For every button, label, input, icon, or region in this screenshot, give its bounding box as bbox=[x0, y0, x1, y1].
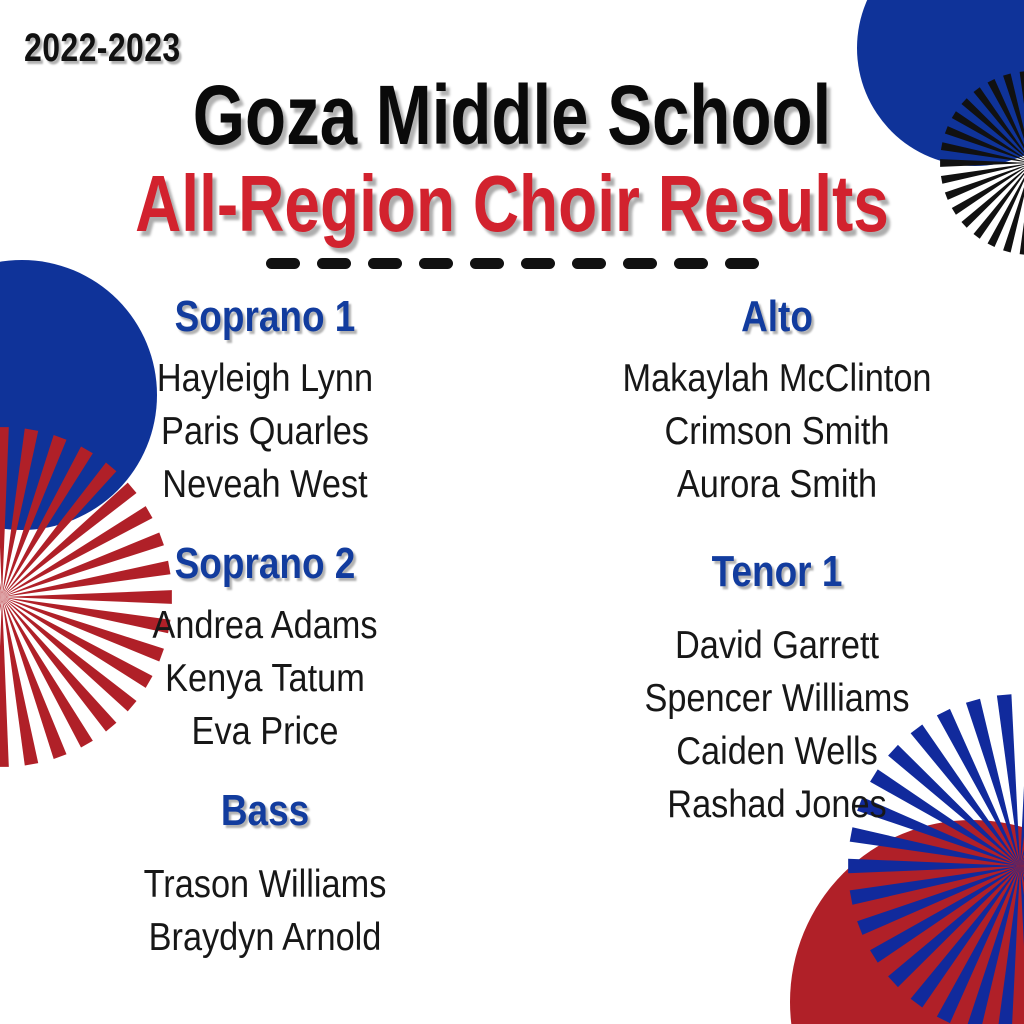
divider-dash bbox=[674, 258, 708, 269]
dashed-divider bbox=[0, 258, 1024, 269]
section-heading: Soprano 2 bbox=[58, 539, 473, 589]
divider-dash bbox=[623, 258, 657, 269]
name-list: Andrea Adams Kenya Tatum Eva Price bbox=[18, 599, 512, 758]
poster-canvas: 2022-2023 Goza Middle School All-Region … bbox=[0, 0, 1024, 1024]
section-heading: Tenor 1 bbox=[570, 547, 985, 597]
list-item: Braydyn Arnold bbox=[48, 911, 483, 964]
name-list: Trason Williams Braydyn Arnold bbox=[18, 858, 512, 964]
list-item: David Garrett bbox=[560, 619, 995, 672]
list-item: Neveah West bbox=[48, 458, 483, 511]
section-heading: Bass bbox=[58, 786, 473, 836]
list-item: Rashad Jones bbox=[560, 778, 995, 831]
section-soprano-2: Soprano 2 Andrea Adams Kenya Tatum Eva P… bbox=[18, 539, 512, 758]
divider-dash bbox=[317, 258, 351, 269]
page-title: Goza Middle School bbox=[102, 74, 921, 156]
page-subtitle: All-Region Choir Results bbox=[102, 162, 921, 246]
list-item: Aurora Smith bbox=[560, 458, 995, 511]
list-item: Kenya Tatum bbox=[48, 652, 483, 705]
divider-dash bbox=[725, 258, 759, 269]
list-item: Eva Price bbox=[48, 705, 483, 758]
divider-dash bbox=[572, 258, 606, 269]
section-heading: Soprano 1 bbox=[58, 292, 473, 342]
list-item: Hayleigh Lynn bbox=[48, 352, 483, 405]
left-column: Soprano 1 Hayleigh Lynn Paris Quarles Ne… bbox=[0, 292, 512, 964]
list-item: Trason Williams bbox=[48, 858, 483, 911]
section-bass: Bass Trason Williams Braydyn Arnold bbox=[18, 786, 512, 964]
divider-dash bbox=[266, 258, 300, 269]
section-tenor-1: Tenor 1 David Garrett Spencer Williams C… bbox=[530, 547, 1024, 831]
list-item: Caiden Wells bbox=[560, 725, 995, 778]
list-item: Andrea Adams bbox=[48, 599, 483, 652]
list-item: Makaylah McClinton bbox=[560, 352, 995, 405]
name-list: Makaylah McClinton Crimson Smith Aurora … bbox=[530, 352, 1024, 511]
results-columns: Soprano 1 Hayleigh Lynn Paris Quarles Ne… bbox=[0, 292, 1024, 964]
right-column: Alto Makaylah McClinton Crimson Smith Au… bbox=[512, 292, 1024, 831]
list-item: Spencer Williams bbox=[560, 672, 995, 725]
school-year-label: 2022-2023 bbox=[24, 26, 181, 71]
divider-dash bbox=[368, 258, 402, 269]
section-heading: Alto bbox=[570, 292, 985, 342]
divider-dash bbox=[470, 258, 504, 269]
title-block: Goza Middle School All-Region Choir Resu… bbox=[0, 74, 1024, 246]
divider-dash bbox=[521, 258, 555, 269]
section-alto: Alto Makaylah McClinton Crimson Smith Au… bbox=[530, 292, 1024, 511]
list-item: Crimson Smith bbox=[560, 405, 995, 458]
divider-dash bbox=[419, 258, 453, 269]
list-item: Paris Quarles bbox=[48, 405, 483, 458]
section-soprano-1: Soprano 1 Hayleigh Lynn Paris Quarles Ne… bbox=[18, 292, 512, 511]
name-list: David Garrett Spencer Williams Caiden We… bbox=[530, 619, 1024, 831]
poster-content: 2022-2023 Goza Middle School All-Region … bbox=[0, 0, 1024, 1024]
name-list: Hayleigh Lynn Paris Quarles Neveah West bbox=[18, 352, 512, 511]
